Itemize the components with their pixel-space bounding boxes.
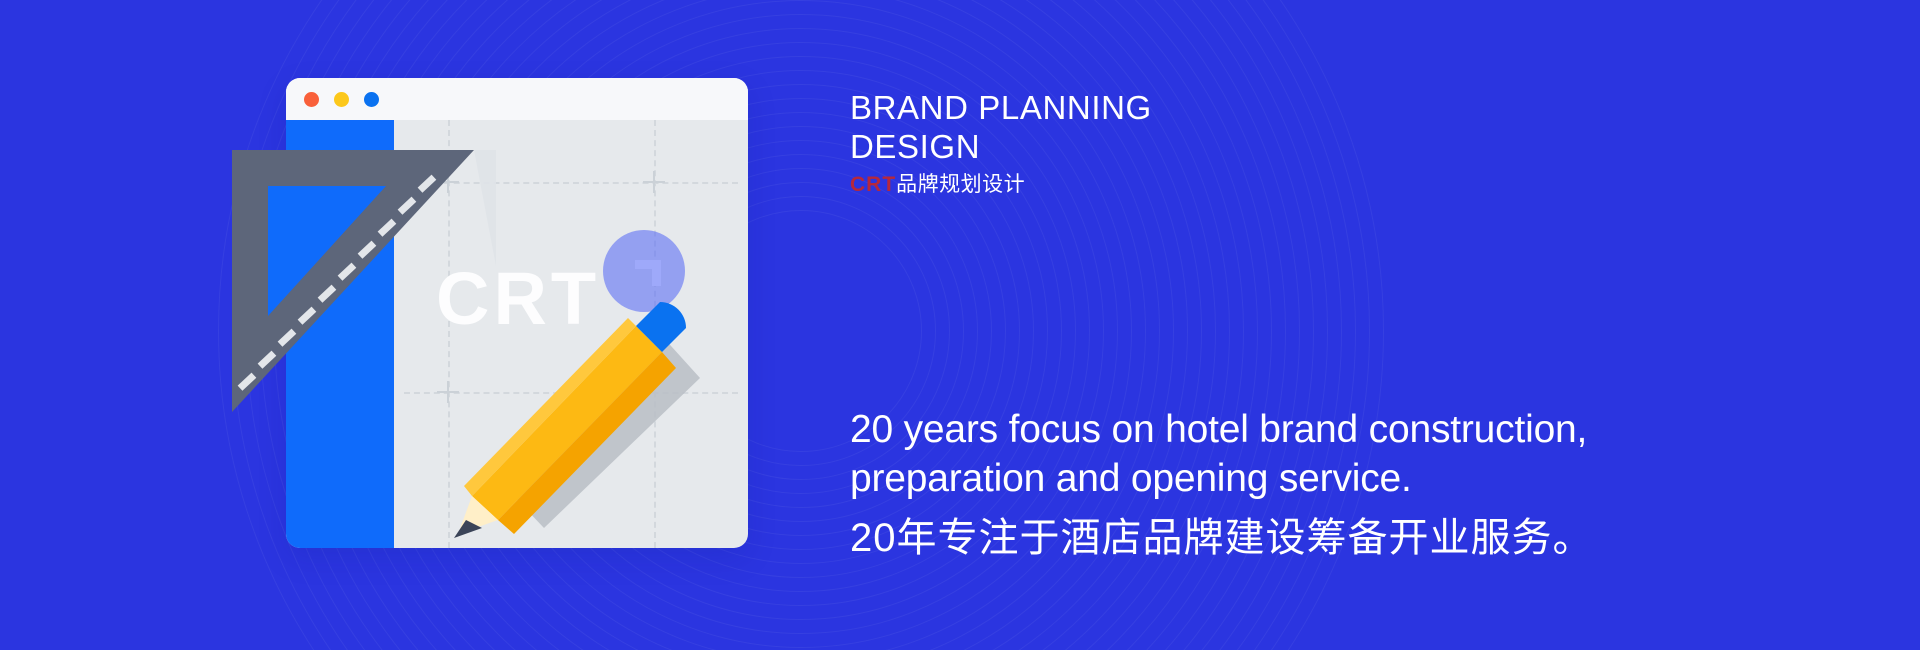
minimize-dot-icon[interactable]	[334, 92, 349, 107]
headline: BRAND PLANNING DESIGN	[850, 88, 1310, 166]
text-block: BRAND PLANNING DESIGN CRT品牌规划设计 20 years…	[850, 0, 1850, 650]
window-titlebar	[286, 78, 748, 120]
close-dot-icon[interactable]	[304, 92, 319, 107]
brand-banner: CRT	[0, 0, 1920, 650]
subheadline: CRT品牌规划设计	[850, 172, 1025, 198]
subheadline-brand: CRT	[850, 173, 896, 196]
tagline-english: 20 years focus on hotel brand constructi…	[850, 405, 1680, 503]
subheadline-cn: 品牌规划设计	[896, 173, 1025, 196]
pencil-icon	[448, 228, 748, 538]
tagline-chinese: 20年专注于酒店品牌建设筹备开业服务。	[850, 512, 1594, 564]
illustration: CRT	[228, 78, 748, 556]
guide-crosshair-icon	[643, 171, 665, 193]
maximize-dot-icon[interactable]	[364, 92, 379, 107]
